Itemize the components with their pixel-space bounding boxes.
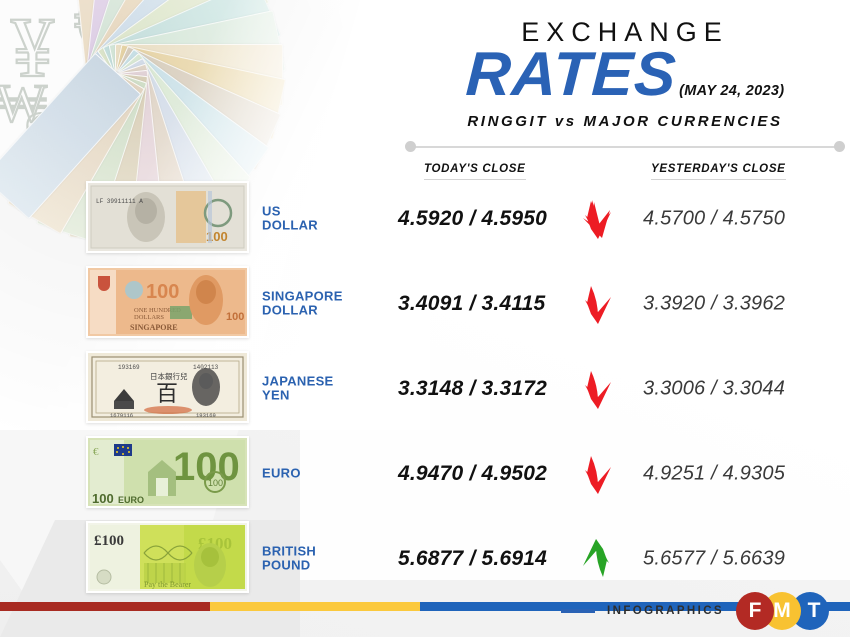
- today-close-value: 3.4091 / 3.4115: [398, 292, 545, 316]
- trend-arrow-down-icon: [578, 281, 618, 327]
- trend-arrow-up-icon: [578, 536, 618, 582]
- currency-label-singapore-dollar: SINGAPORE DOLLAR: [262, 289, 343, 318]
- page-title: RATES: [464, 44, 678, 106]
- footer-bar-segment-red: [0, 602, 210, 611]
- table-row: 100 ONE HUNDRED DOLLARS SINGAPORE 100 SI…: [0, 261, 850, 346]
- svg-text:Pay the Bearer: Pay the Bearer: [144, 580, 191, 589]
- svg-text:100: 100: [208, 478, 223, 488]
- today-close-value: 5.6877 / 5.6914: [398, 547, 547, 571]
- header-subtitle: RINGGIT vs MAJOR CURRENCIES: [415, 113, 835, 130]
- currency-label-euro: EURO: [262, 466, 301, 481]
- currency-label-british-pound: BRITISH POUND: [262, 544, 316, 573]
- today-close-value: 4.9470 / 4.9502: [398, 462, 547, 486]
- exchange-rates-infographic: ¥ € $ £ ₣ ₹ ₩ ₽: [0, 0, 850, 637]
- currency-label-line2: YEN: [262, 388, 290, 403]
- footer-dash-icon: [561, 609, 595, 613]
- today-close-value: 3.3148 / 3.3172: [398, 377, 547, 401]
- banknote-euro: € 100 100 100 EURO: [86, 436, 249, 508]
- svg-text:EURO: EURO: [118, 495, 144, 505]
- currency-label-line2: DOLLAR: [262, 218, 318, 233]
- poster-header: EXCHANGE RATES(MAY 24, 2023) RINGGIT vs …: [415, 18, 835, 130]
- svg-text:LF 39911111 A: LF 39911111 A: [96, 198, 143, 205]
- currency-label-us-dollar: US DOLLAR: [262, 204, 318, 233]
- svg-text:100: 100: [173, 445, 240, 489]
- banknote-british-pound: £100 £100 Pay the Bearer: [86, 521, 249, 593]
- divider-dot-left: [405, 141, 416, 152]
- currency-label-line1: US: [262, 203, 281, 218]
- footer-bar-segment-gold: [210, 602, 420, 611]
- svg-text:£100: £100: [94, 533, 124, 549]
- currency-label-line1: SINGAPORE: [262, 288, 343, 303]
- fmt-logo: T M F: [736, 592, 836, 630]
- currency-label-line2: DOLLAR: [262, 303, 318, 318]
- currency-label-line1: JAPANESE: [262, 373, 334, 388]
- banknote-singapore-dollar: 100 ONE HUNDRED DOLLARS SINGAPORE 100: [86, 266, 249, 338]
- yesterday-close-value: 3.3006 / 3.3044: [643, 377, 785, 400]
- svg-text:193169: 193169: [118, 364, 140, 371]
- currency-label-line2: POUND: [262, 558, 310, 573]
- yesterday-close-value: 3.3920 / 3.3962: [643, 292, 785, 315]
- trend-arrow-down-icon: [578, 366, 618, 412]
- svg-text:SINGAPORE: SINGAPORE: [130, 323, 178, 332]
- svg-text:€: €: [93, 446, 99, 458]
- footer-branding: INFOGRAPHICS T M F: [561, 592, 836, 630]
- table-row: 193169 1402113 日本銀行兒 百 1679116 193169 JA…: [0, 346, 850, 431]
- svg-text:百: 百: [156, 381, 178, 406]
- svg-text:193169: 193169: [196, 412, 216, 419]
- footer-label: INFOGRAPHICS: [607, 605, 724, 617]
- table-row: € 100 100 100 EURO EURO 4.9470 / 4.9502: [0, 431, 850, 516]
- currency-label-line1: EURO: [262, 465, 301, 480]
- currency-label-japanese-yen: JAPANESE YEN: [262, 374, 334, 403]
- svg-text:DOLLARS: DOLLARS: [134, 314, 164, 321]
- banknote-us-dollar: LF 39911111 A 100: [86, 181, 249, 253]
- svg-text:100: 100: [92, 491, 114, 506]
- banknote-japanese-yen: 193169 1402113 日本銀行兒 百 1679116 193169: [86, 351, 249, 423]
- svg-text:1679116: 1679116: [110, 412, 133, 419]
- today-close-value: 4.5920 / 4.5950: [398, 207, 547, 231]
- divider-dot-right: [834, 141, 845, 152]
- svg-text:日本銀行兒: 日本銀行兒: [150, 371, 188, 381]
- rates-table: LF 39911111 A 100 US DOLLAR 4.5920 / 4.5…: [0, 176, 850, 601]
- yesterday-close-value: 4.5700 / 4.5750: [643, 207, 785, 230]
- header-divider: [405, 141, 845, 153]
- trend-arrow-down-icon: [578, 196, 618, 242]
- trend-arrow-down-icon: [578, 451, 618, 497]
- table-row: LF 39911111 A 100 US DOLLAR 4.5920 / 4.5…: [0, 176, 850, 261]
- yesterday-close-value: 5.6577 / 5.6639: [643, 547, 785, 570]
- header-date: (MAY 24, 2023): [679, 83, 784, 99]
- logo-circle-f: F: [736, 592, 774, 630]
- currency-label-line1: BRITISH: [262, 543, 316, 558]
- svg-text:100: 100: [146, 281, 179, 303]
- yesterday-close-value: 4.9251 / 4.9305: [643, 462, 785, 485]
- table-row: £100 £100 Pay the Bearer: [0, 516, 850, 601]
- divider-line: [413, 146, 837, 148]
- svg-text:100: 100: [226, 311, 244, 323]
